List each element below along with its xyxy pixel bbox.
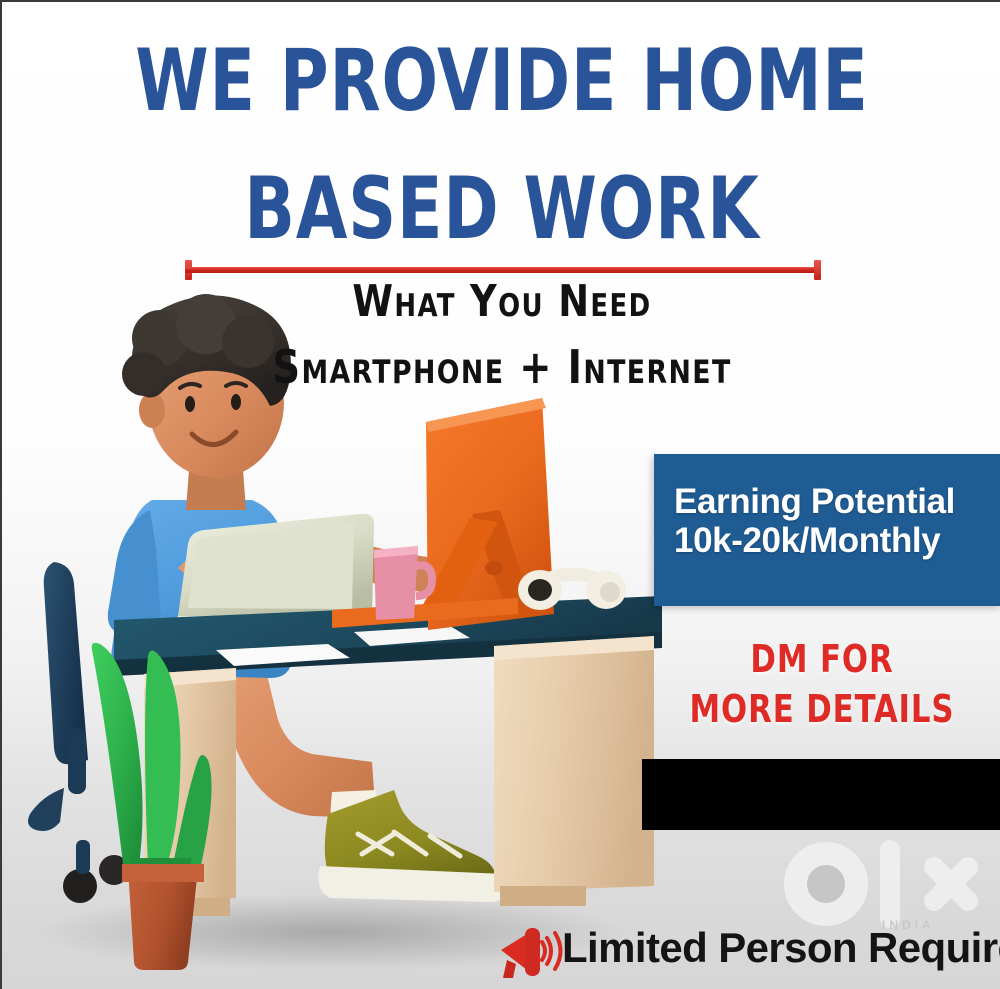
subheading-requirements: Smartphone + Internet (37, 344, 967, 390)
advertisement-canvas: WE PROVIDE HOME BASED WORK What You Need… (0, 0, 1000, 989)
earning-potential-amount: 10k-20k/Monthly (654, 521, 1000, 560)
megaphone-icon (497, 920, 569, 982)
earning-potential-box: Earning Potential 10k-20k/Monthly (654, 454, 1000, 606)
divider-bar (185, 267, 821, 273)
earning-potential-label: Earning Potential (654, 454, 1000, 521)
headline-line-2: BASED WORK (72, 166, 932, 252)
divider-cap-right (814, 260, 821, 280)
cta-line-2: MORE DETAILS (660, 690, 984, 728)
banner-limited-person-required: Limited Person Required (562, 927, 1000, 969)
subheading-what-you-need: What You Need (37, 280, 967, 324)
black-redaction-bar (642, 759, 1000, 830)
headline-line-1: WE PROVIDE HOME (72, 38, 932, 124)
cta-line-1: DM FOR (660, 640, 984, 678)
